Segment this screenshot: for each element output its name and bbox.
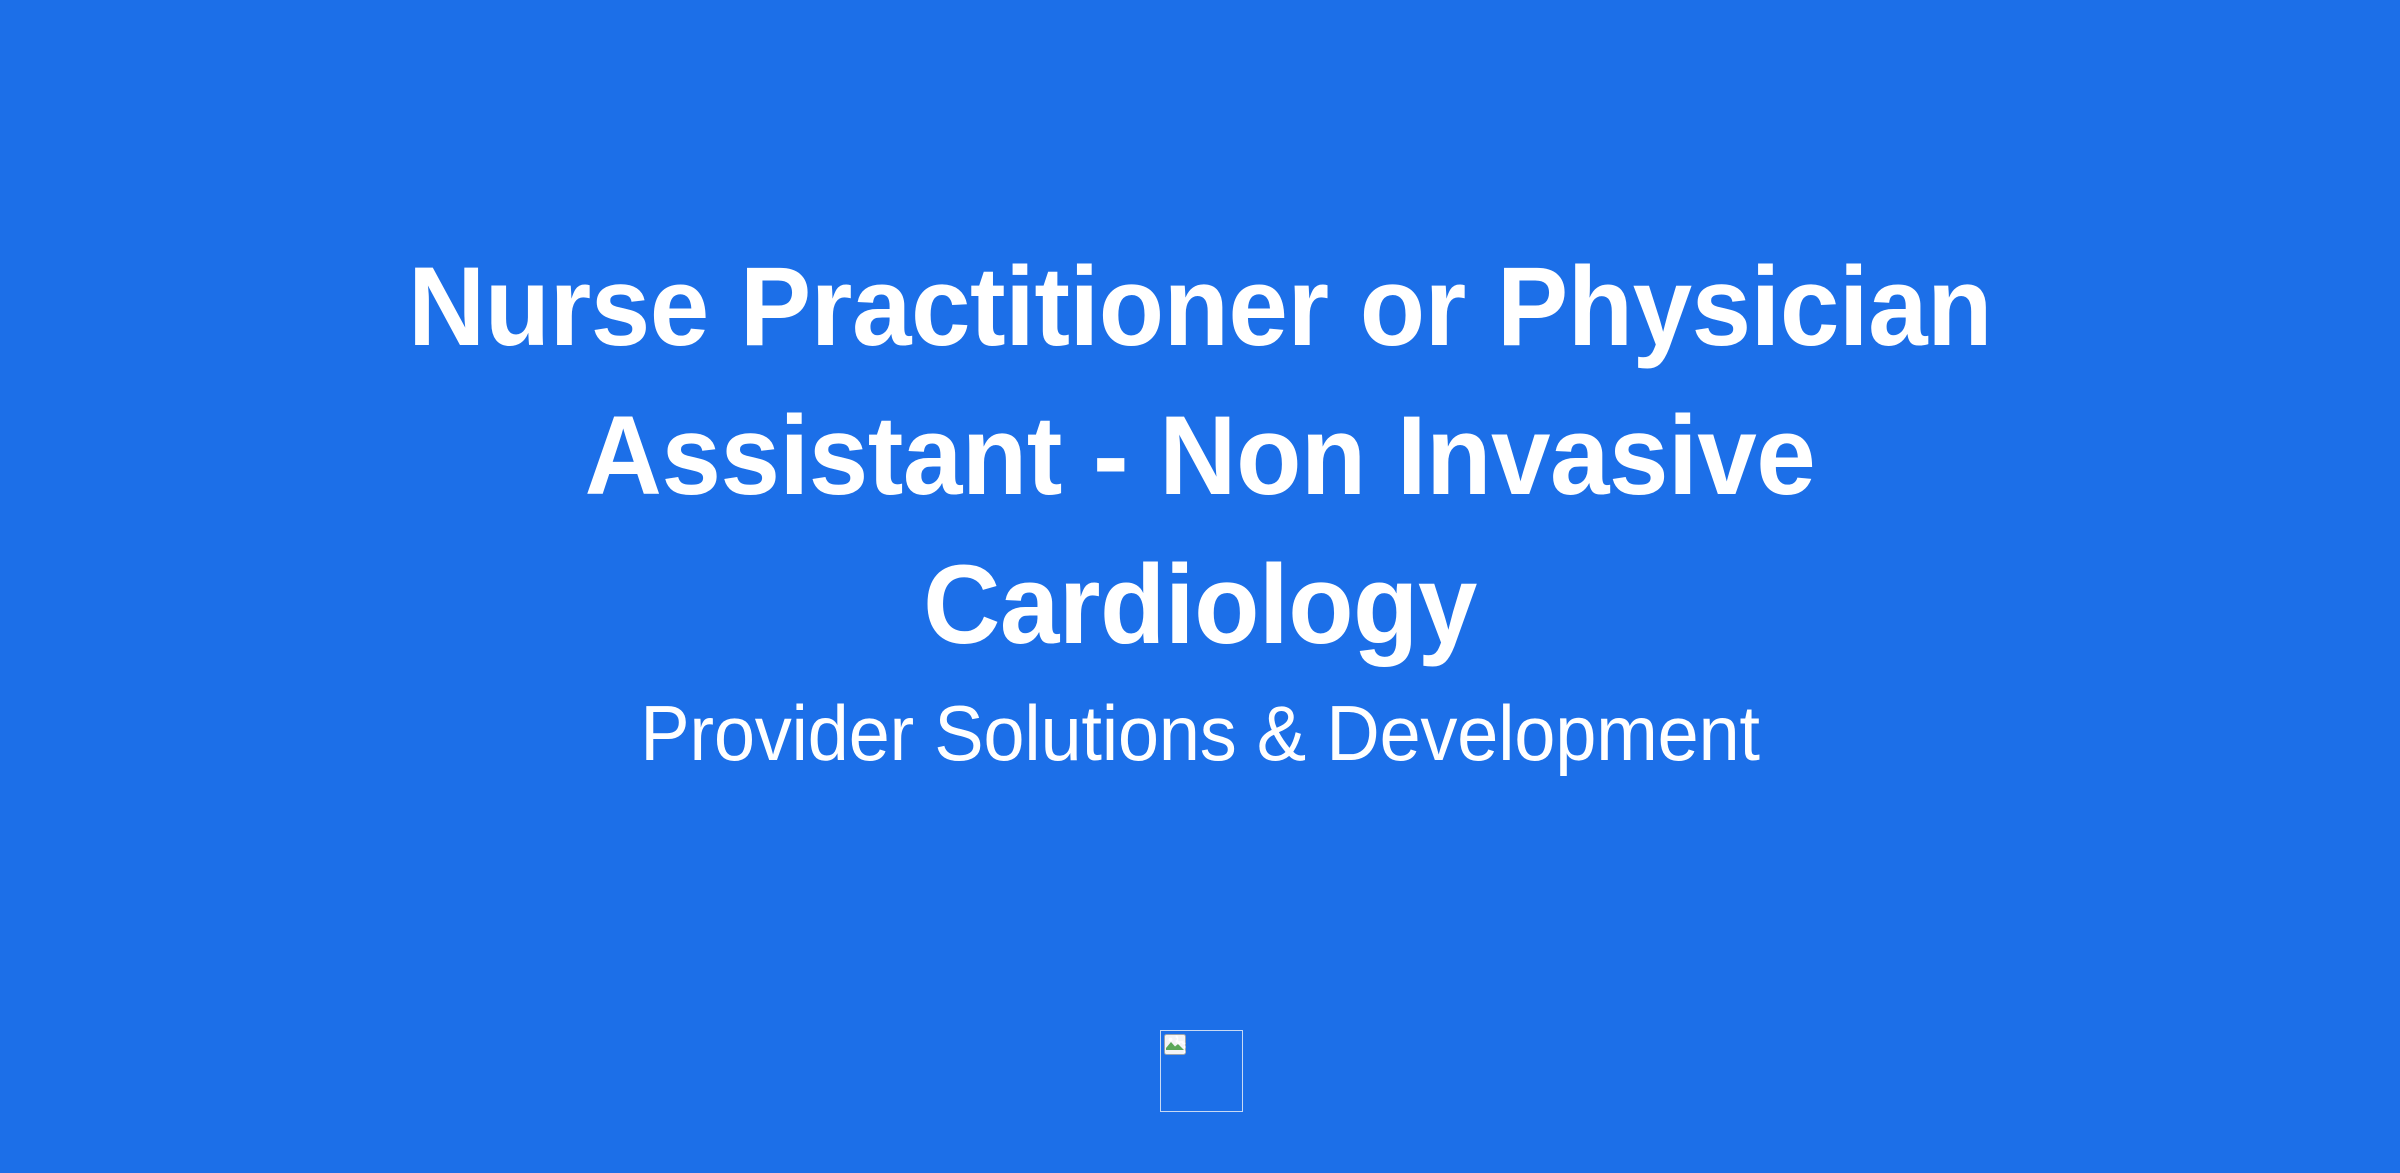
page-subtitle: Provider Solutions & Development <box>298 685 2103 781</box>
broken-image-icon <box>1164 1034 1186 1055</box>
hero-section: Nurse Practitioner or Physician Assistan… <box>0 0 2400 781</box>
broken-image-placeholder[interactable] <box>1160 1030 1243 1112</box>
slide-canvas: Nurse Practitioner or Physician Assistan… <box>0 0 2400 1173</box>
logo-image-slot[interactable] <box>1160 1030 1243 1112</box>
page-title: Nurse Practitioner or Physician Assistan… <box>388 232 2012 679</box>
